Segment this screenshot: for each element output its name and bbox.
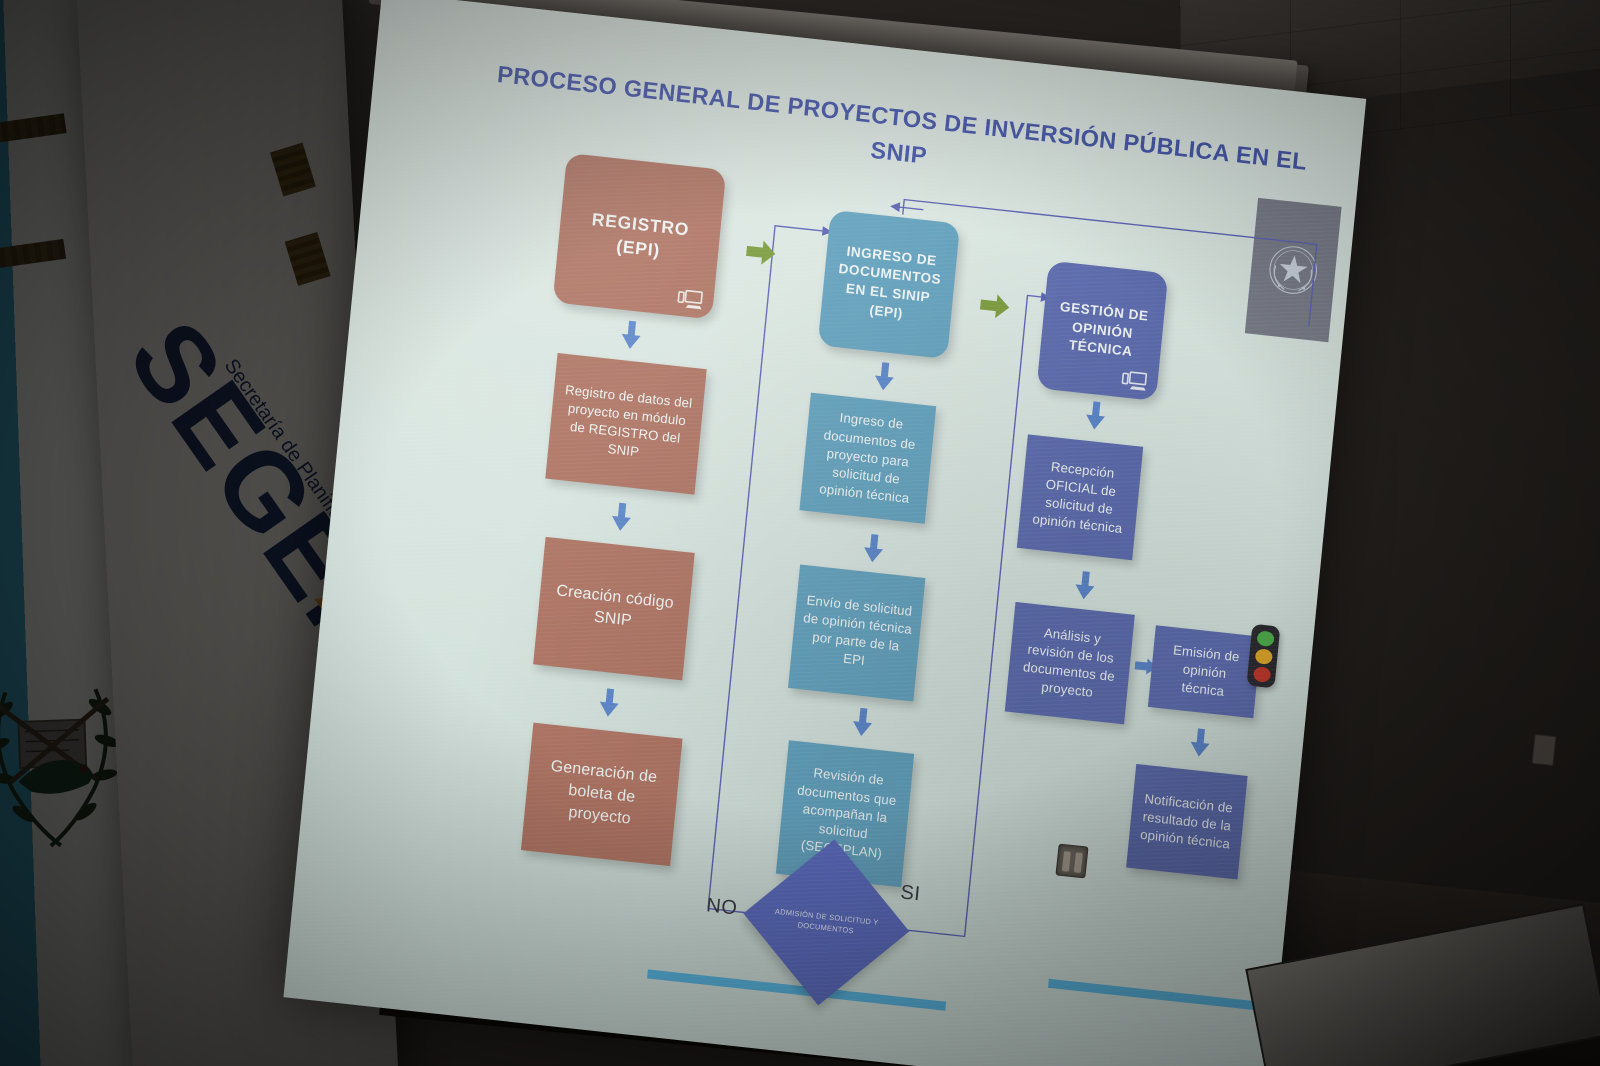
flow-node-c1-2-label: Creación código SNIP [545,579,683,637]
flow-node-c3-1-label: Recepción OFICIAL de solicitud de opinió… [1027,456,1134,539]
banner-tassel-upper [270,143,316,197]
blue-arrow-down-icon [1074,570,1096,600]
flow-node-c3-1[interactable]: Recepción OFICIAL de solicitud de opinió… [1017,434,1143,560]
banner-tassel-lower [285,232,331,286]
flag-fringe-lower [0,239,66,276]
blue-arrow-down-icon [874,362,896,392]
photo-scene: SEGEPLAN Secretaría de Planificación y P… [0,0,1600,1066]
branch-label-si: SI [899,881,921,906]
flow-node-c4-1-label: Emisión de opinión técnica [1157,640,1252,704]
flow-node-c2-2-label: Envío de solicitud de opinión técnica po… [798,591,914,675]
flowchart: REGISTRO(EPI) INGRESO DEDOCUMENTOSEN EL … [283,0,1366,1066]
flow-node-c1-3[interactable]: Generación de boleta de proyecto [521,723,683,867]
flow-decision-admision-label: ADMISIÓN DE SOLICITUD Y DOCUMENTOS [771,905,883,939]
flag-fringe-upper [0,113,67,151]
computer-icon [677,288,705,311]
flow-header-gestion-label: GESTIÓN DEOPINIÓNTÉCNICA [1055,298,1149,364]
wall-outlet [1531,734,1556,766]
flow-node-c2-1-label: Ingreso de documentos de proyecto para s… [809,407,927,510]
flow-node-c2-2[interactable]: Envío de solicitud de opinión técnica po… [788,564,925,701]
flow-node-c1-1[interactable]: Registro de datos del proyecto en módulo… [545,353,706,495]
blue-arrow-down-icon [598,688,620,718]
light-switch[interactable] [1055,844,1088,879]
flow-header-ingreso[interactable]: INGRESO DEDOCUMENTOSEN EL SINIP(EPI) [818,210,961,359]
flow-node-c1-2[interactable]: Creación código SNIP [533,537,695,681]
flow-node-c4-2[interactable]: Notificación de resultado de la opinión … [1126,764,1247,880]
flow-node-c2-3-label: Revisión de documentos que acompañan la … [786,763,904,866]
flow-node-c4-2-label: Notificación de resultado de la opinión … [1136,789,1237,854]
flow-node-c4-1[interactable]: Emisión de opinión técnica [1148,625,1261,718]
blue-arrow-down-icon [611,502,633,532]
flow-node-c1-3-label: Generación de boleta de proyecto [532,754,672,834]
blue-arrow-down-icon [620,320,642,350]
flow-node-c2-1[interactable]: Ingreso de documentos de proyecto para s… [799,393,936,524]
blue-arrow-down-icon [1085,401,1107,431]
flow-header-registro[interactable]: REGISTRO(EPI) [553,153,727,320]
flow-header-ingreso-label: INGRESO DEDOCUMENTOSEN EL SINIP(EPI) [834,242,944,328]
flow-node-c3-2-label: Análisis y revisión de los documentos de… [1015,621,1126,705]
flow-header-registro-label: REGISTRO(EPI) [588,207,690,266]
green-arrow-icon [979,291,1011,320]
computer-icon [1121,369,1149,392]
green-arrow-icon [745,238,777,267]
projector-screen[interactable]: PROCESO GENERAL DE PROYECTOS DE INVERSIÓ… [283,0,1366,1066]
blue-arrow-down-icon [1189,728,1211,758]
flow-node-c3-2[interactable]: Análisis y revisión de los documentos de… [1005,602,1135,724]
flow-node-c1-1-label: Registro de datos del proyecto en módulo… [556,380,696,467]
blue-arrow-down-icon [852,707,874,737]
branch-label-no: NO [705,894,738,920]
blue-arrow-down-icon [863,533,885,563]
flow-header-gestion[interactable]: GESTIÓN DEOPINIÓNTÉCNICA [1036,261,1168,401]
presentation-slide: PROCESO GENERAL DE PROYECTOS DE INVERSIÓ… [283,0,1366,1066]
